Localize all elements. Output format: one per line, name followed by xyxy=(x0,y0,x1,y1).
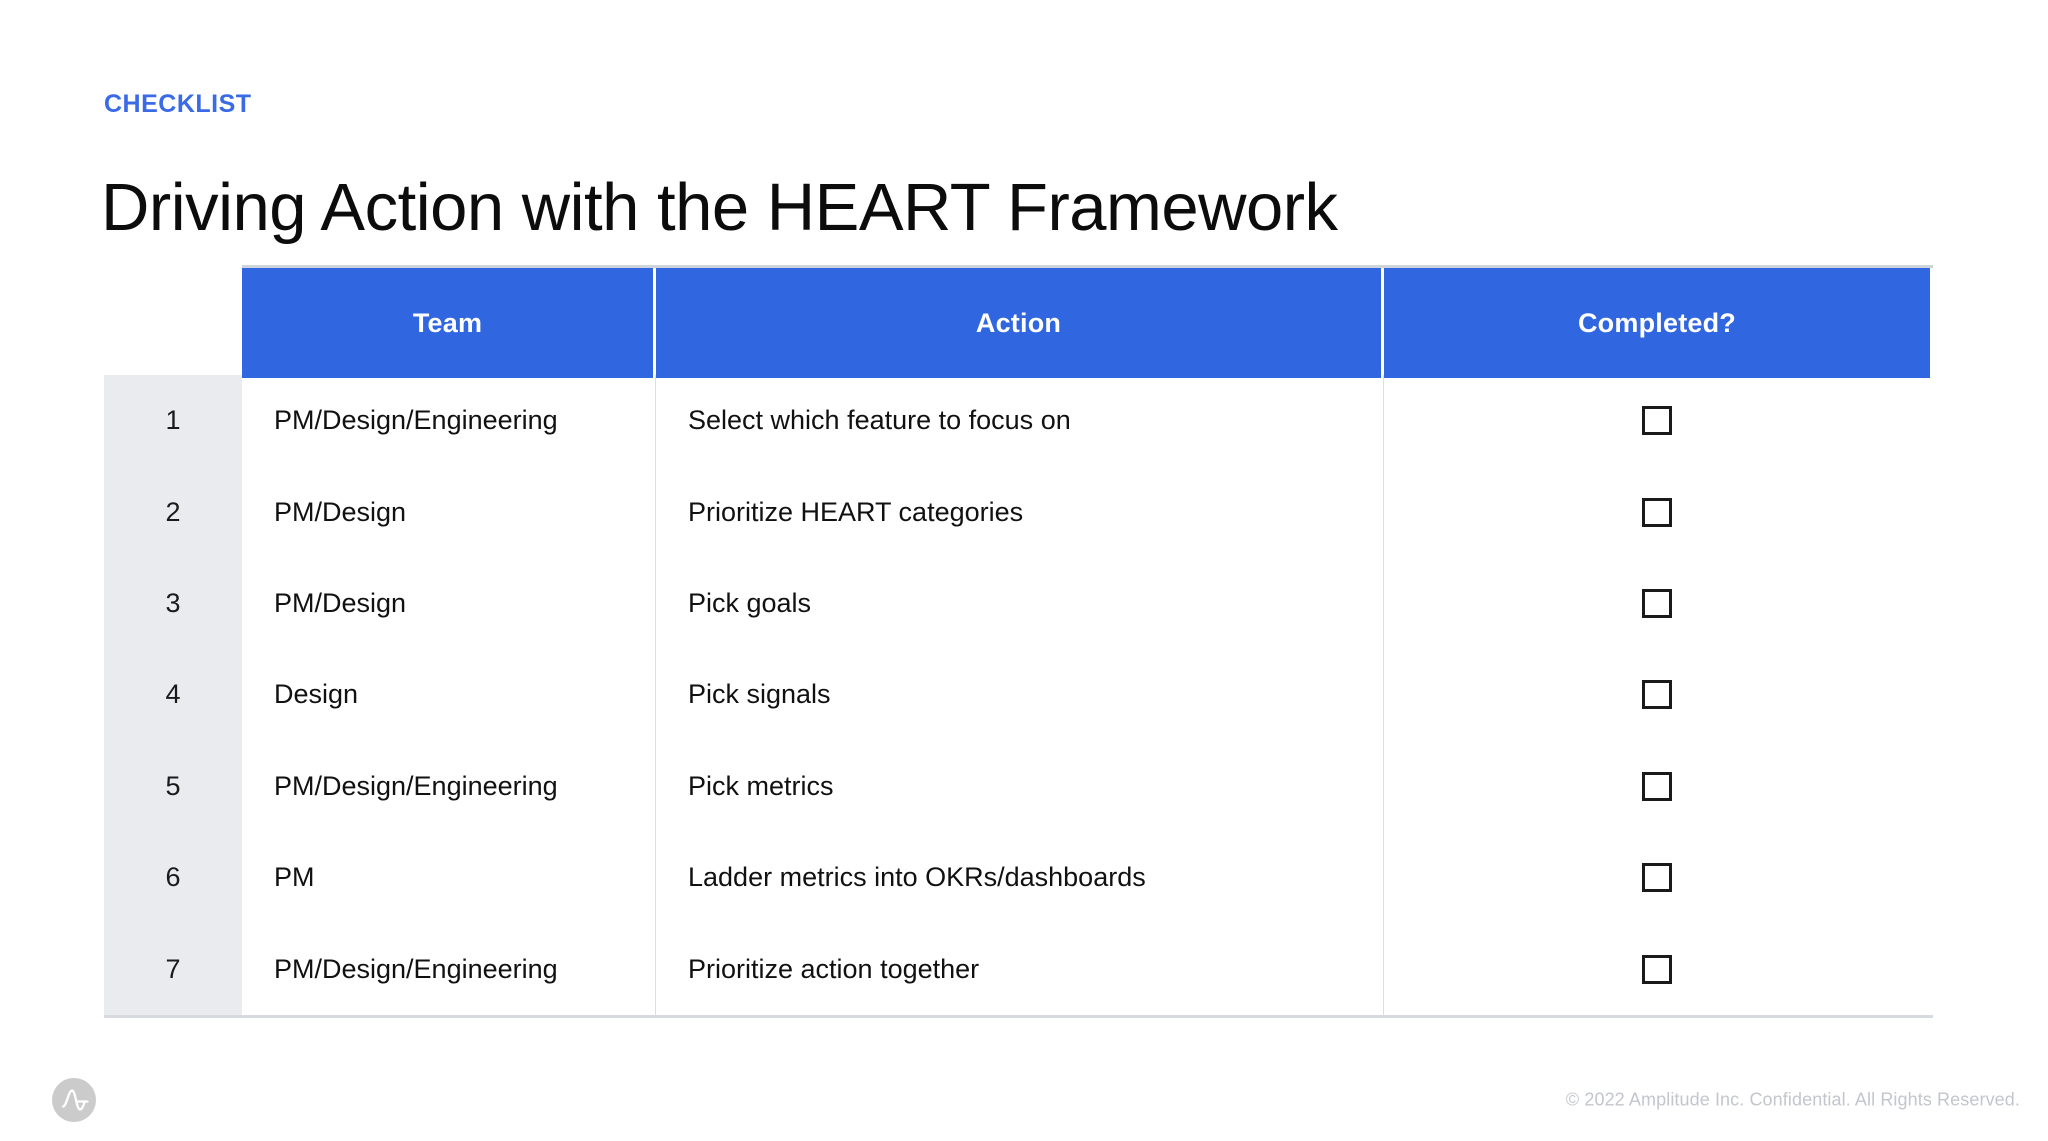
cell-team: PM/Design xyxy=(242,466,656,557)
column-header-team: Team xyxy=(242,268,656,378)
table-row: 4DesignPick signals xyxy=(104,649,1933,740)
cell-action: Pick goals xyxy=(656,558,1384,649)
row-number: 4 xyxy=(104,649,242,740)
table-row: 1PM/Design/EngineeringSelect which featu… xyxy=(104,375,1933,466)
completed-checkbox[interactable] xyxy=(1642,955,1672,984)
cell-team: PM/Design/Engineering xyxy=(242,923,656,1014)
table-row: 2PM/DesignPrioritize HEART categories xyxy=(104,466,1933,557)
cell-completed xyxy=(1384,741,1930,832)
cell-action: Select which feature to focus on xyxy=(656,375,1384,466)
table-body: 1PM/Design/EngineeringSelect which featu… xyxy=(104,375,1933,1018)
table-row: 6PMLadder metrics into OKRs/dashboards xyxy=(104,832,1933,923)
cell-completed xyxy=(1384,649,1930,740)
cell-action: Prioritize action together xyxy=(656,923,1384,1014)
cell-team: PM/Design/Engineering xyxy=(242,375,656,466)
row-number: 3 xyxy=(104,558,242,649)
cell-action: Ladder metrics into OKRs/dashboards xyxy=(656,832,1384,923)
row-number: 5 xyxy=(104,741,242,832)
page-title: Driving Action with the HEART Framework xyxy=(101,168,1338,247)
cell-action: Pick signals xyxy=(656,649,1384,740)
table-row: 7PM/Design/EngineeringPrioritize action … xyxy=(104,923,1933,1014)
column-header-action: Action xyxy=(656,268,1384,378)
copyright-text: © 2022 Amplitude Inc. Confidential. All … xyxy=(1566,1090,2020,1111)
cell-team: Design xyxy=(242,649,656,740)
table-header-row: Team Action Completed? xyxy=(242,265,1933,378)
cell-completed xyxy=(1384,558,1930,649)
table-row: 5PM/Design/EngineeringPick metrics xyxy=(104,741,1933,832)
cell-completed xyxy=(1384,375,1930,466)
cell-team: PM/Design xyxy=(242,558,656,649)
cell-action: Prioritize HEART categories xyxy=(656,466,1384,557)
slide-canvas: CHECKLIST Driving Action with the HEART … xyxy=(0,0,2048,1141)
cell-completed xyxy=(1384,832,1930,923)
row-number: 7 xyxy=(104,923,242,1014)
cell-action: Pick metrics xyxy=(656,741,1384,832)
slide-eyebrow-label: CHECKLIST xyxy=(104,92,252,117)
cell-completed xyxy=(1384,923,1930,1014)
column-header-completed: Completed? xyxy=(1384,268,1930,378)
cell-completed xyxy=(1384,466,1930,557)
completed-checkbox[interactable] xyxy=(1642,772,1672,801)
completed-checkbox[interactable] xyxy=(1642,498,1672,527)
row-number: 1 xyxy=(104,375,242,466)
amplitude-logo xyxy=(46,1072,102,1128)
table-row: 3PM/DesignPick goals xyxy=(104,558,1933,649)
row-number: 6 xyxy=(104,832,242,923)
row-number: 2 xyxy=(104,466,242,557)
cell-team: PM xyxy=(242,832,656,923)
completed-checkbox[interactable] xyxy=(1642,406,1672,435)
checklist-table: Team Action Completed? 1PM/Design/Engine… xyxy=(104,265,1933,1015)
completed-checkbox[interactable] xyxy=(1642,863,1672,892)
completed-checkbox[interactable] xyxy=(1642,680,1672,709)
cell-team: PM/Design/Engineering xyxy=(242,741,656,832)
completed-checkbox[interactable] xyxy=(1642,589,1672,618)
